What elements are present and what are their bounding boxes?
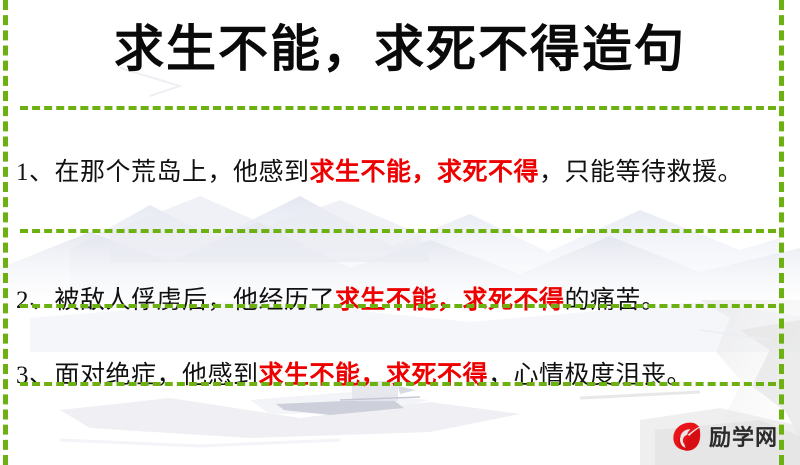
flame-swirl-logo-icon <box>668 418 704 454</box>
sentence-text-before: 被敌人俘虏后，他经历了 <box>55 287 336 314</box>
divider-after-sentence-3 <box>20 382 776 386</box>
divider-after-sentence-1 <box>20 229 776 233</box>
sentence-text-before: 在那个荒岛上，他感到 <box>55 159 310 186</box>
sentence-item: 3、面对绝症，他感到求生不能，求死不得，心情极度沮丧。 <box>16 355 768 397</box>
idiom-highlight: 求生不能，求死不得 <box>310 159 540 186</box>
sentence-number: 2、 <box>16 287 55 314</box>
document-content: 求生不能，求死不得造句 1、在那个荒岛上，他感到求生不能，求死不得，只能等待救援… <box>0 0 800 465</box>
site-watermark-logo: 励学网 <box>668 418 778 454</box>
left-dashed-border <box>3 0 8 465</box>
right-dashed-border <box>779 0 784 465</box>
document-page: 求生不能，求死不得造句 1、在那个荒岛上，他感到求生不能，求死不得，只能等待救援… <box>0 0 800 465</box>
sentence-item: 1、在那个荒岛上，他感到求生不能，求死不得，只能等待救援。 <box>16 152 768 194</box>
divider-below-title <box>20 106 776 110</box>
idiom-highlight: 求生不能，求死不得 <box>335 287 565 314</box>
sentence-number: 1、 <box>16 159 55 186</box>
title-block: 求生不能，求死不得造句 <box>0 14 800 84</box>
sentence-text-after: ，只能等待救援。 <box>539 159 743 186</box>
site-watermark-label: 励学网 <box>709 420 778 452</box>
sentence-item: 2、被敌人俘虏后，他经历了求生不能，求死不得的痛苦。 <box>16 280 768 322</box>
divider-after-sentence-2 <box>20 304 776 308</box>
page-title: 求生不能，求死不得造句 <box>0 14 800 84</box>
sentence-text-after: 的痛苦。 <box>565 287 667 314</box>
